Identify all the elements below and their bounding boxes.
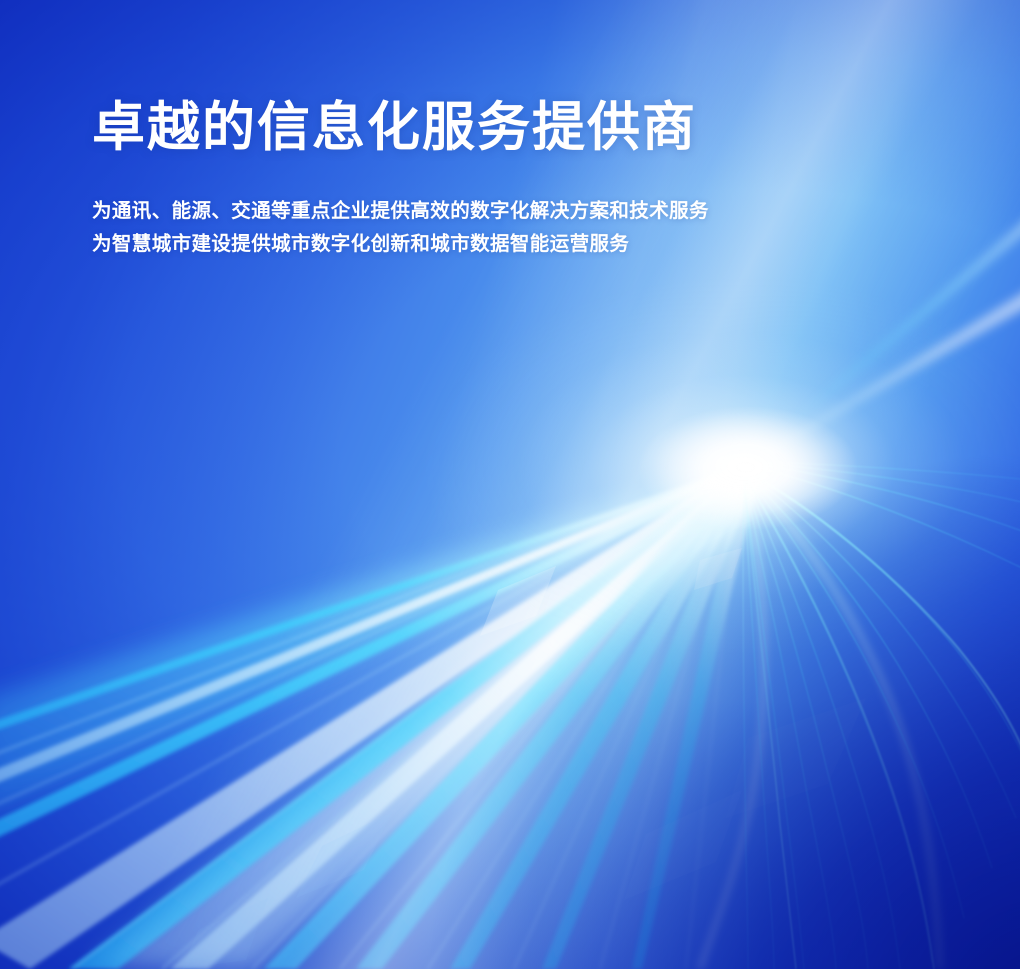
banner-subtitle: 为通讯、能源、交通等重点企业提供高效的数字化解决方案和技术服务 为智慧城市建设提… bbox=[92, 195, 952, 261]
hero-banner: 卓越的信息化服务提供商 为通讯、能源、交通等重点企业提供高效的数字化解决方案和技… bbox=[0, 0, 1020, 969]
subtitle-line-2: 为智慧城市建设提供城市数字化创新和城市数据智能运营服务 bbox=[92, 228, 952, 261]
subtitle-line-1: 为通讯、能源、交通等重点企业提供高效的数字化解决方案和技术服务 bbox=[92, 195, 952, 228]
page-title: 卓越的信息化服务提供商 bbox=[92, 98, 952, 157]
banner-copy: 卓越的信息化服务提供商 为通讯、能源、交通等重点企业提供高效的数字化解决方案和技… bbox=[92, 98, 952, 261]
